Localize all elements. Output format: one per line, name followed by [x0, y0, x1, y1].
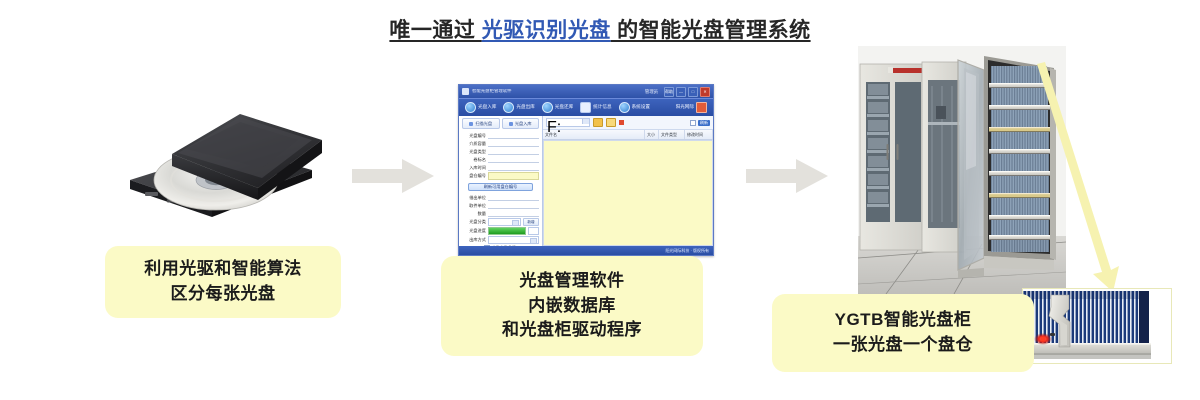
- page-title: 唯一通过 光驱识别光盘 的智能光盘管理系统: [0, 14, 1200, 44]
- input-borrow-unit[interactable]: [488, 194, 539, 201]
- field-label-disc-number: 光盘编号: [462, 133, 486, 139]
- page-title-part1: 唯一通过: [389, 19, 481, 42]
- tab-scan-disc[interactable]: 扫描光盘: [462, 118, 500, 129]
- caption-software-line-2: 内嵌数据库: [528, 294, 616, 319]
- refresh-files-label: 刷新: [698, 120, 710, 126]
- field-label-slot-number: 盘仓编号: [462, 173, 486, 179]
- toolbar-item-disc-in[interactable]: 光盘入库: [462, 101, 499, 114]
- disc-in-icon: [465, 102, 476, 113]
- tab-label-scan: 扫描光盘: [475, 121, 492, 127]
- caption-software: 光盘管理软件 内嵌数据库 和光盘柜驱动程序: [441, 256, 703, 356]
- file-toolbar[interactable]: F: 刷新: [543, 116, 713, 130]
- disc-back-icon: [542, 102, 553, 113]
- input-volume-label[interactable]: [488, 156, 539, 163]
- field-disc-number[interactable]: 光盘编号: [462, 132, 539, 139]
- status-bar: 阳光网际科技 · 版权所有: [459, 246, 713, 255]
- refresh-files-button[interactable]: 刷新: [690, 120, 710, 126]
- field-borrow-unit[interactable]: 借出单位: [462, 194, 539, 201]
- toolbar-label-link: 阳光网际: [676, 105, 694, 110]
- field-label-checkout-mode: 出库方式: [462, 237, 486, 243]
- add-category-button[interactable]: 新增: [523, 218, 539, 226]
- file-list[interactable]: [543, 140, 713, 246]
- current-user-label: 管理员: [645, 89, 658, 95]
- field-label-quantity: 数量: [462, 211, 486, 217]
- left-form-panel[interactable]: 扫描光盘 光盘入库 光盘编号 介质容量 光盘类型 卷标名: [459, 116, 543, 246]
- caption-cabinet-line-2: 一张光盘一个盘仓: [833, 333, 973, 358]
- field-label-intake-time: 入库时间: [462, 165, 486, 171]
- disc-out-icon: [503, 102, 514, 113]
- tab-disc-in[interactable]: 光盘入库: [502, 118, 540, 129]
- help-button[interactable]: 帮助: [664, 87, 674, 97]
- inset-pointer-arrow: [1015, 58, 1125, 298]
- stats-icon: [580, 102, 591, 113]
- window-title: 智能光盘柜管理软件: [472, 89, 645, 93]
- field-capacity[interactable]: 介质容量: [462, 140, 539, 147]
- field-label-progress: 光盘进度: [462, 228, 486, 234]
- close-button[interactable]: ✕: [700, 87, 710, 97]
- field-checkout-mode[interactable]: 出库方式: [462, 236, 539, 244]
- column-size[interactable]: 大小: [645, 130, 659, 139]
- right-file-panel[interactable]: F: 刷新 文件名 大小 文件类型 修改时间: [543, 116, 713, 246]
- page-title-accent: 光驱识别光盘: [482, 19, 611, 42]
- input-intake-time[interactable]: [488, 164, 539, 171]
- status-bar-text: 阳光网际科技 · 版权所有: [665, 248, 709, 254]
- field-disc-category[interactable]: 光盘分类 新增: [462, 218, 539, 226]
- caption-cabinet: YGTB智能光盘柜 一张光盘一个盘仓: [772, 294, 1034, 372]
- scan-icon: [469, 122, 473, 126]
- caption-software-line-3: 和光盘柜驱动程序: [502, 318, 642, 343]
- field-quantity[interactable]: 数量: [462, 210, 539, 217]
- toolbar-label-stats: 统计信息: [593, 105, 611, 110]
- field-label-disc-type: 光盘类型: [462, 149, 486, 155]
- add-icon: [509, 122, 513, 126]
- input-disc-number[interactable]: [488, 132, 539, 139]
- file-list-header: 文件名 大小 文件类型 修改时间: [543, 130, 713, 140]
- software-window[interactable]: 智能光盘柜管理软件 管理员 帮助 — □ ✕ 光盘入库 光盘出库 光盘还库 统计…: [458, 84, 714, 256]
- toolbar-item-stats[interactable]: 统计信息: [577, 101, 614, 114]
- input-disc-type[interactable]: [488, 148, 539, 155]
- folder-icon[interactable]: [593, 118, 603, 127]
- flow-arrow-2: [746, 158, 830, 199]
- field-slot-number[interactable]: 盘仓编号: [462, 172, 539, 180]
- column-filetype[interactable]: 文件类型: [659, 130, 685, 139]
- flow-arrow-1: [352, 158, 436, 199]
- toolbar-item-settings[interactable]: 系统设置: [616, 101, 653, 114]
- input-slot-number[interactable]: [488, 172, 539, 180]
- field-volume-label[interactable]: 卷标名: [462, 156, 539, 163]
- maximize-button[interactable]: □: [688, 87, 698, 97]
- field-label-capacity: 介质容量: [462, 141, 486, 147]
- field-disc-type[interactable]: 光盘类型: [462, 148, 539, 155]
- toolbar-item-link[interactable]: 阳光网际: [673, 101, 710, 114]
- window-buttons[interactable]: 帮助 — □ ✕: [664, 87, 710, 97]
- caption-drive: 利用光驱和智能算法 区分每张光盘: [105, 246, 341, 318]
- input-pickup-unit[interactable]: [488, 202, 539, 209]
- refresh-slots-button[interactable]: 刷新可用盘仓编号: [468, 183, 533, 191]
- toolbar-item-disc-out[interactable]: 光盘出库: [500, 101, 537, 114]
- input-capacity[interactable]: [488, 140, 539, 147]
- input-quantity[interactable]: [488, 210, 539, 217]
- progress-value-stepper[interactable]: [528, 227, 539, 235]
- slot-closeup-photo: [1022, 288, 1172, 364]
- record-icon[interactable]: [619, 120, 624, 125]
- minimize-button[interactable]: —: [676, 87, 686, 97]
- field-label-disc-category: 光盘分类: [462, 219, 486, 225]
- toolbar-item-disc-back[interactable]: 光盘还库: [539, 101, 576, 114]
- field-intake-time[interactable]: 入库时间: [462, 164, 539, 171]
- toolbar-label-disc-in: 光盘入库: [478, 105, 496, 110]
- toolbar-label-settings: 系统设置: [632, 105, 650, 110]
- field-pickup-unit[interactable]: 取件单位: [462, 202, 539, 209]
- checkbox-icon[interactable]: [690, 120, 696, 126]
- page-title-part2: 的智能光盘管理系统: [611, 19, 811, 42]
- link-icon: [696, 102, 707, 113]
- field-label-volume: 卷标名: [462, 157, 486, 163]
- optical-drive-photo: [112, 96, 340, 228]
- select-disc-category[interactable]: [488, 218, 521, 226]
- toolbar-label-disc-out: 光盘出库: [516, 105, 534, 110]
- field-label-borrow-unit: 借出单位: [462, 195, 486, 201]
- main-toolbar[interactable]: 光盘入库 光盘出库 光盘还库 统计信息 系统设置 阳光网际: [459, 98, 713, 116]
- folder-open-icon[interactable]: [606, 118, 616, 127]
- app-icon: [462, 88, 469, 95]
- caption-cabinet-line-1: YGTB智能光盘柜: [835, 308, 972, 333]
- select-checkout-mode[interactable]: [488, 236, 539, 244]
- column-modified[interactable]: 修改时间: [685, 130, 713, 139]
- tab-label-disc-in: 光盘入库: [515, 121, 532, 127]
- progress-bar: [488, 227, 526, 235]
- caption-drive-line-1: 利用光驱和智能算法: [144, 257, 302, 282]
- window-titlebar: 智能光盘柜管理软件 管理员 帮助 — □ ✕: [459, 85, 713, 98]
- field-progress: 光盘进度: [462, 227, 539, 235]
- path-combo[interactable]: F:: [546, 118, 590, 127]
- window-body: 扫描光盘 光盘入库 光盘编号 介质容量 光盘类型 卷标名: [459, 116, 713, 246]
- caption-software-line-1: 光盘管理软件: [520, 269, 625, 294]
- toolbar-label-disc-back: 光盘还库: [555, 105, 573, 110]
- left-panel-tabs[interactable]: 扫描光盘 光盘入库: [462, 118, 539, 129]
- field-label-pickup-unit: 取件单位: [462, 203, 486, 209]
- caption-drive-line-2: 区分每张光盘: [171, 282, 276, 307]
- gear-icon: [619, 102, 630, 113]
